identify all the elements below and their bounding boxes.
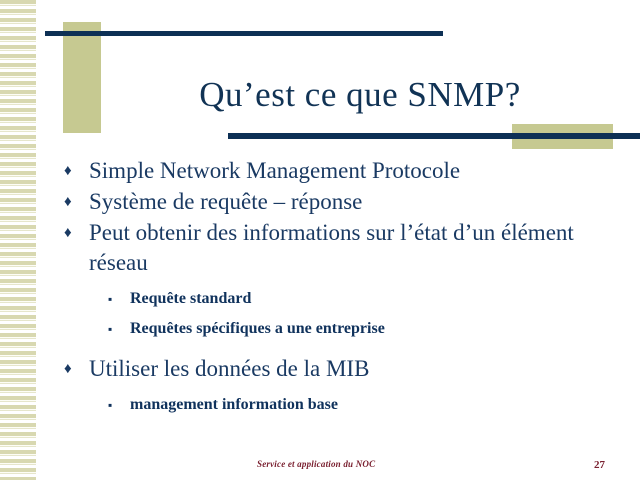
slide-title: Qu’est ce que SNMP? [120,74,600,116]
bullet-item: ♦ Simple Network Management Protocole [58,156,598,186]
sub-bullet-item-label: Requête standard [130,290,251,307]
diamond-bullet-icon: ♦ [64,354,72,384]
bullet-item: ♦ Système de requête – réponse [58,187,598,217]
footer-text: Service et application du NOC [257,459,375,469]
bullet-item: ♦ Utiliser les données de la MIB [58,354,598,384]
sub-bullet-item: ▪ Requêtes spécifiques a une entreprise [58,316,598,342]
bullet-item-label: Peut obtenir des informations sur l’état… [89,218,598,278]
diamond-bullet-icon: ♦ [64,156,72,186]
accent-block-left [63,22,101,133]
sub-bullet-item: ▪ management information base [58,392,598,418]
slide: Qu’est ce que SNMP? ♦ Simple Network Man… [0,0,640,480]
top-horizontal-rule [45,31,443,36]
square-bullet-icon: ▪ [108,286,112,312]
square-bullet-icon: ▪ [108,316,112,342]
page-number: 27 [594,459,605,471]
bullet-item-label: Utiliser les données de la MIB [89,354,598,384]
sub-bullet-item-label: management information base [130,396,338,413]
sub-bullet-item: ▪ Requête standard [58,286,598,312]
title-underline-rule [228,133,640,139]
diamond-bullet-icon: ♦ [64,187,72,217]
bullet-item: ♦ Peut obtenir des informations sur l’ét… [58,218,598,278]
square-bullet-icon: ▪ [108,392,112,418]
bullet-item-label: Simple Network Management Protocole [89,156,598,186]
left-stripe-edge-mask [36,0,43,480]
slide-body: ♦ Simple Network Management Protocole ♦ … [58,156,598,418]
diamond-bullet-icon: ♦ [64,218,72,248]
bullet-item-label: Système de requête – réponse [89,187,598,217]
sub-bullet-item-label: Requêtes spécifiques a une entreprise [130,320,385,337]
